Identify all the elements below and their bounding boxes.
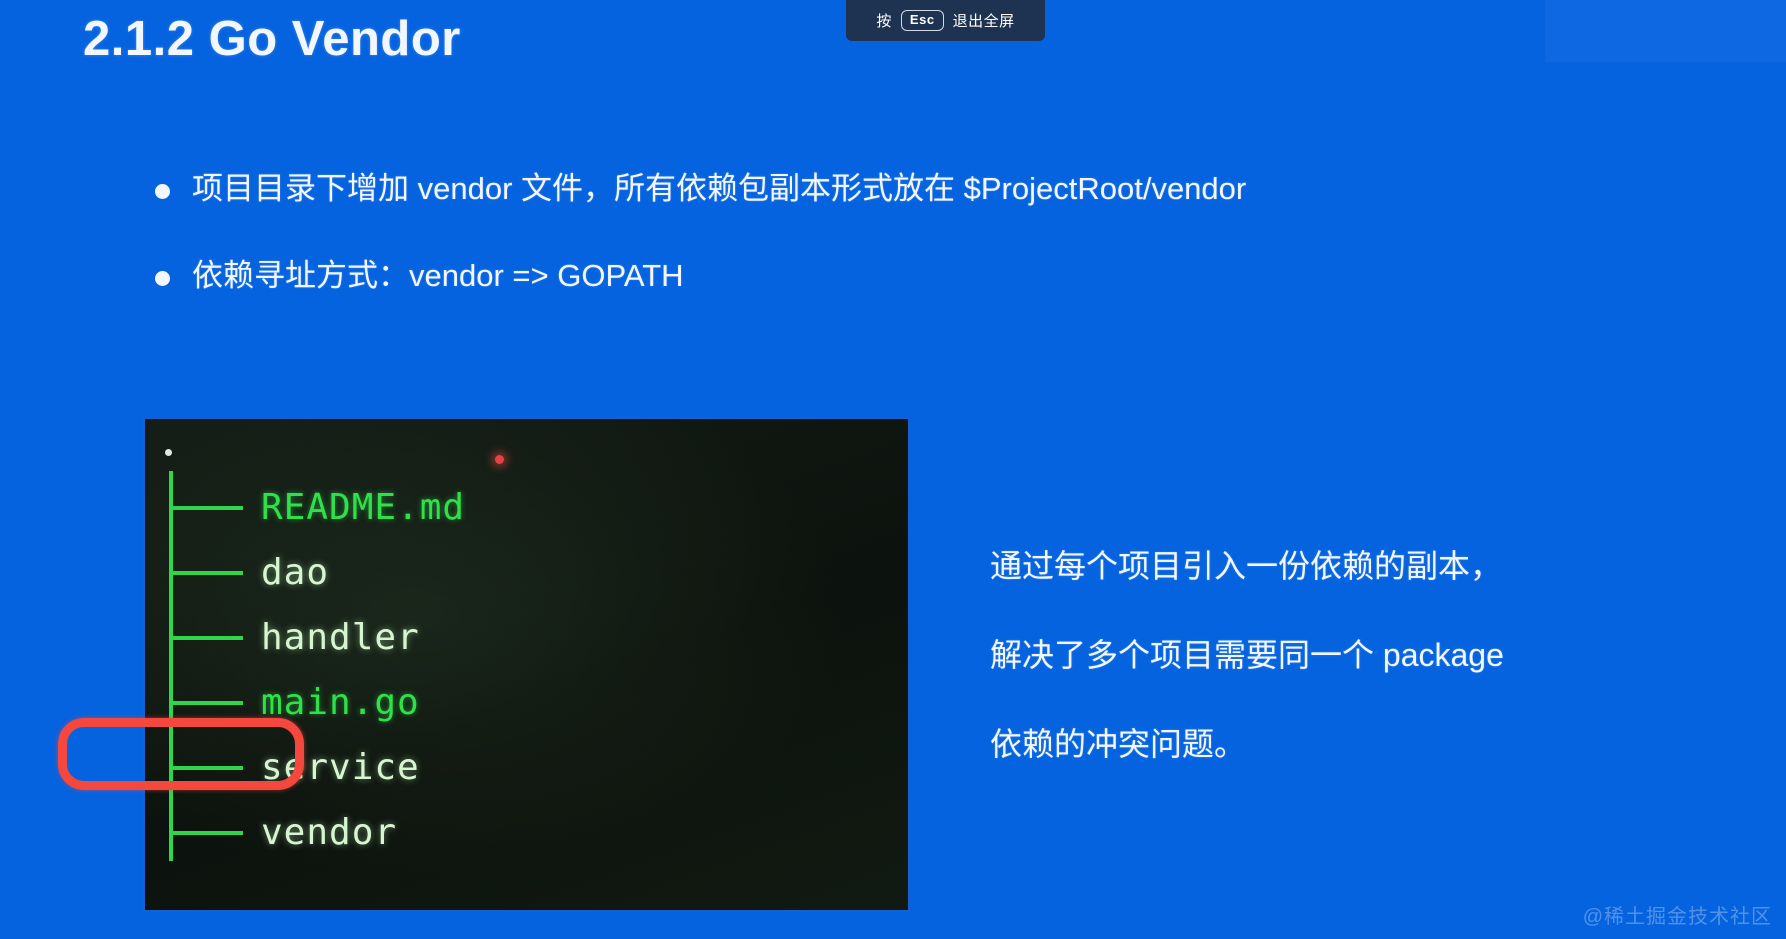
- tree-row: service: [169, 737, 420, 799]
- tree-branch-line: [169, 636, 243, 640]
- tree-row: README.md: [169, 477, 465, 539]
- fullscreen-hint-suffix: 退出全屏: [953, 10, 1015, 31]
- bullet-text: 项目目录下增加 vendor 文件，所有依赖包副本形式放在 $ProjectRo…: [192, 170, 1246, 209]
- annotation-text: 通过每个项目引入一份依赖的副本， 解决了多个项目需要同一个 package 依赖…: [990, 550, 1504, 817]
- background-gradient-artifact: [1545, 0, 1786, 62]
- slide-title: 2.1.2 Go Vendor: [83, 11, 461, 67]
- red-led-icon: [495, 455, 504, 464]
- tree-branch-line: [169, 506, 243, 510]
- tree-root-dot: [165, 449, 172, 456]
- bullet-item: 项目目录下增加 vendor 文件，所有依赖包副本形式放在 $ProjectRo…: [155, 170, 1655, 209]
- tree-entry-vendor: vendor: [261, 815, 397, 851]
- tree-branch-line: [169, 571, 243, 575]
- bullet-text: 依赖寻址方式：vendor => GOPATH: [192, 257, 684, 296]
- annotation-line: 通过每个项目引入一份依赖的副本，: [990, 550, 1504, 582]
- bullet-dot-icon: [155, 184, 170, 199]
- terminal-screenshot: README.md dao handler main.go service ve…: [143, 417, 910, 912]
- annotation-line: 解决了多个项目需要同一个 package: [990, 639, 1504, 671]
- fullscreen-hint-prefix: 按: [876, 10, 892, 31]
- esc-key-badge: Esc: [901, 10, 944, 31]
- tree-entry-readme: README.md: [261, 490, 465, 526]
- fullscreen-hint-toast: 按 Esc 退出全屏: [846, 0, 1045, 41]
- tree-row: dao: [169, 542, 329, 604]
- bullet-dot-icon: [155, 271, 170, 286]
- tree-entry-dao: dao: [261, 555, 329, 591]
- tree-entry-service: service: [261, 750, 420, 786]
- bullet-list: 项目目录下增加 vendor 文件，所有依赖包副本形式放在 $ProjectRo…: [155, 170, 1655, 344]
- tree-row: vendor: [169, 802, 397, 864]
- tree-row: main.go: [169, 672, 420, 734]
- terminal-content: README.md dao handler main.go service ve…: [145, 419, 908, 910]
- bullet-item: 依赖寻址方式：vendor => GOPATH: [155, 257, 1655, 296]
- annotation-line: 依赖的冲突问题。: [990, 728, 1504, 760]
- tree-branch-line: [169, 701, 243, 705]
- watermark: @稀土掘金技术社区: [1583, 900, 1772, 929]
- tree-branch-line: [169, 766, 243, 770]
- tree-branch-line: [169, 831, 243, 835]
- tree-entry-handler: handler: [261, 620, 420, 656]
- tree-row: handler: [169, 607, 420, 669]
- tree-entry-main-go: main.go: [261, 685, 420, 721]
